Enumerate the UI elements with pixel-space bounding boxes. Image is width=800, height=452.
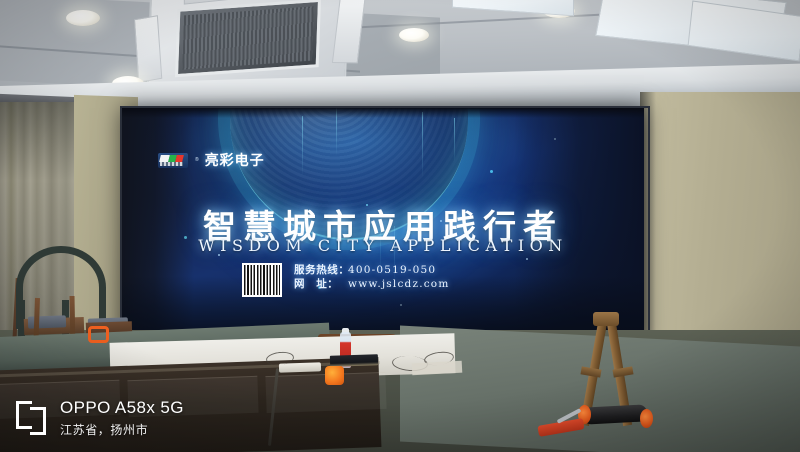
website-row: 网 址： www.jslcdz.com [294,277,450,291]
qr-code-pattern [244,265,280,295]
contact-lines: 服务热线： 400-0519-050 网 址： www.jslcdz.com [294,263,450,291]
screen-top-shadow [122,108,644,118]
screen-title-english: WISDOM CITY APPLICATION [122,236,644,255]
camera-watermark: OPPO A58x 5G 江苏省，扬州市 [16,398,184,438]
downlight-3 [399,28,429,42]
hotline-label: 服务热线： [294,263,348,277]
easel-head [593,312,619,326]
watermark-text: OPPO A58x 5G 江苏省，扬州市 [60,398,184,438]
qr-code[interactable] [242,263,282,297]
roller-cap-right [640,409,653,428]
ac-grille-slats [182,6,314,69]
website-label: 网 址： [294,277,348,291]
ac-intake-grille [175,0,321,77]
orange-tape-measure[interactable] [325,366,344,385]
company-name: 亮彩电子 [205,150,265,170]
black-roller-tool[interactable] [583,404,648,424]
photo-scene: ® 亮彩电子 智慧城市应用践行者 WISDOM CITY APPLICATION… [0,0,800,452]
oppo-shot-on-logo [16,401,46,435]
website-value: www.jslcdz.com [348,277,450,291]
trademark-symbol: ® [195,157,199,163]
watermark-device-model: OPPO A58x 5G [60,398,184,418]
logo-bracket-right [30,407,46,435]
hotline-row: 服务热线： 400-0519-050 [294,263,450,277]
contact-block: 服务热线： 400-0519-050 网 址： www.jslcdz.com [242,263,450,297]
ceiling-panel-light-3 [452,0,574,16]
watermark-location: 江苏省，扬州市 [60,421,184,438]
led-video-wall[interactable]: ® 亮彩电子 智慧城市应用践行者 WISDOM CITY APPLICATION… [122,108,644,346]
hotline-value: 400-0519-050 [348,263,436,277]
ac-vane-left [134,15,162,83]
orange-ring-object [88,326,109,343]
dark-notebook[interactable] [330,354,378,367]
brand-lockup: ® 亮彩电子 [158,150,265,170]
downlight-1 [66,10,100,26]
liangcai-logo-mark [158,153,188,168]
